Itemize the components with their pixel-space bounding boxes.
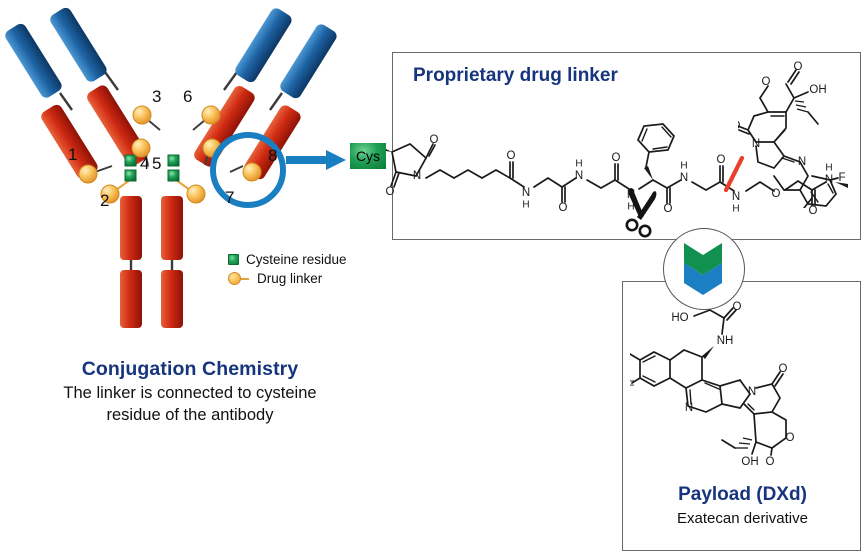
- atom-quinoline-n: N: [798, 156, 806, 168]
- cysteine-residue-icon: [228, 254, 239, 265]
- site-label-8: 8: [268, 147, 277, 164]
- caption-title: Conjugation Chemistry: [10, 358, 370, 382]
- legend: Cysteine residue Drug linker: [228, 250, 388, 288]
- atom-amide1-h: H: [522, 200, 529, 211]
- atom-maleimide-n: N: [413, 170, 421, 182]
- conjugation-caption: Conjugation Chemistry The linker is conn…: [10, 358, 370, 426]
- atom-maleimide-o-bottom: O: [386, 186, 395, 198]
- atom-lactam-o: O: [779, 363, 788, 375]
- atom-oh-bottom: OH: [741, 456, 758, 468]
- antibody-domain-blue-left-outer: [3, 22, 64, 100]
- antibody-domain-fc: [120, 196, 183, 328]
- atom-amide3-o: O: [612, 152, 621, 164]
- antibody-domain-red-right-inner: [192, 84, 257, 169]
- atom-nh: NH: [717, 335, 734, 347]
- atom-f: F: [838, 172, 845, 184]
- cys-tag: Cys: [350, 143, 386, 169]
- antibody-domain-blue-right-outer: [278, 22, 339, 100]
- site-label-5: 5: [152, 155, 161, 172]
- antibody-domain-blue-left-inner: [48, 6, 109, 84]
- drug-linker-icon: [228, 272, 250, 285]
- atom-amide2-n: N: [575, 170, 583, 182]
- atom-amide2-o: O: [559, 202, 568, 214]
- atom-maleimide-o-top: O: [430, 134, 439, 146]
- site-label-1: 1: [68, 146, 77, 163]
- legend-label-drug-linker: Drug linker: [257, 271, 322, 286]
- legend-item-drug-linker: Drug linker: [228, 269, 388, 288]
- atom-amide4-h: H: [680, 161, 687, 172]
- scissors-icon: [622, 186, 668, 238]
- cys-tag-label: Cys: [356, 148, 380, 164]
- atom-ho: HO: [671, 312, 688, 324]
- atom-oh: OH: [809, 84, 826, 96]
- site-label-6: 6: [183, 88, 192, 105]
- dxd-moiety-structure: O O OH O N N F: [738, 58, 862, 208]
- caption-line-1: The linker is connected to cysteine: [10, 383, 370, 404]
- atom-quinoline-n: N: [685, 402, 693, 414]
- legend-item-cysteine: Cysteine residue: [228, 250, 388, 269]
- dxd-payload-structure: HO O NH F N N O O OH O: [630, 300, 858, 490]
- site-label-2: 2: [100, 192, 109, 209]
- atom-lactone-o-ring: O: [762, 76, 771, 88]
- payload-panel-subtitle: Exatecan derivative: [623, 510, 862, 527]
- site-label-4: 4: [140, 155, 149, 172]
- atom-lactam-n: N: [748, 386, 756, 398]
- atom-amide1-o: O: [507, 150, 516, 162]
- arrow-to-cys-icon: [286, 148, 348, 172]
- legend-label-cysteine: Cysteine residue: [246, 252, 347, 267]
- site-label-7: 7: [225, 189, 234, 206]
- atom-amide2-h: H: [575, 159, 582, 170]
- caption-line-2: residue of the antibody: [10, 405, 370, 426]
- double-chevron-down-icon: [663, 228, 745, 310]
- atom-lactam-o: O: [738, 120, 741, 132]
- atom-lactone-o-ring: O: [786, 432, 795, 444]
- atom-amide1-n: N: [522, 187, 530, 199]
- site-label-3: 3: [152, 88, 161, 105]
- atom-amide5-o: O: [717, 154, 726, 166]
- atom-o-bottom: O: [766, 456, 775, 468]
- atom-lactone-o-dbl: O: [794, 61, 803, 73]
- antibody-domain-blue-right-inner: [233, 6, 294, 84]
- atom-amide4-n: N: [680, 172, 688, 184]
- linker-panel-title: Proprietary drug linker: [413, 65, 618, 87]
